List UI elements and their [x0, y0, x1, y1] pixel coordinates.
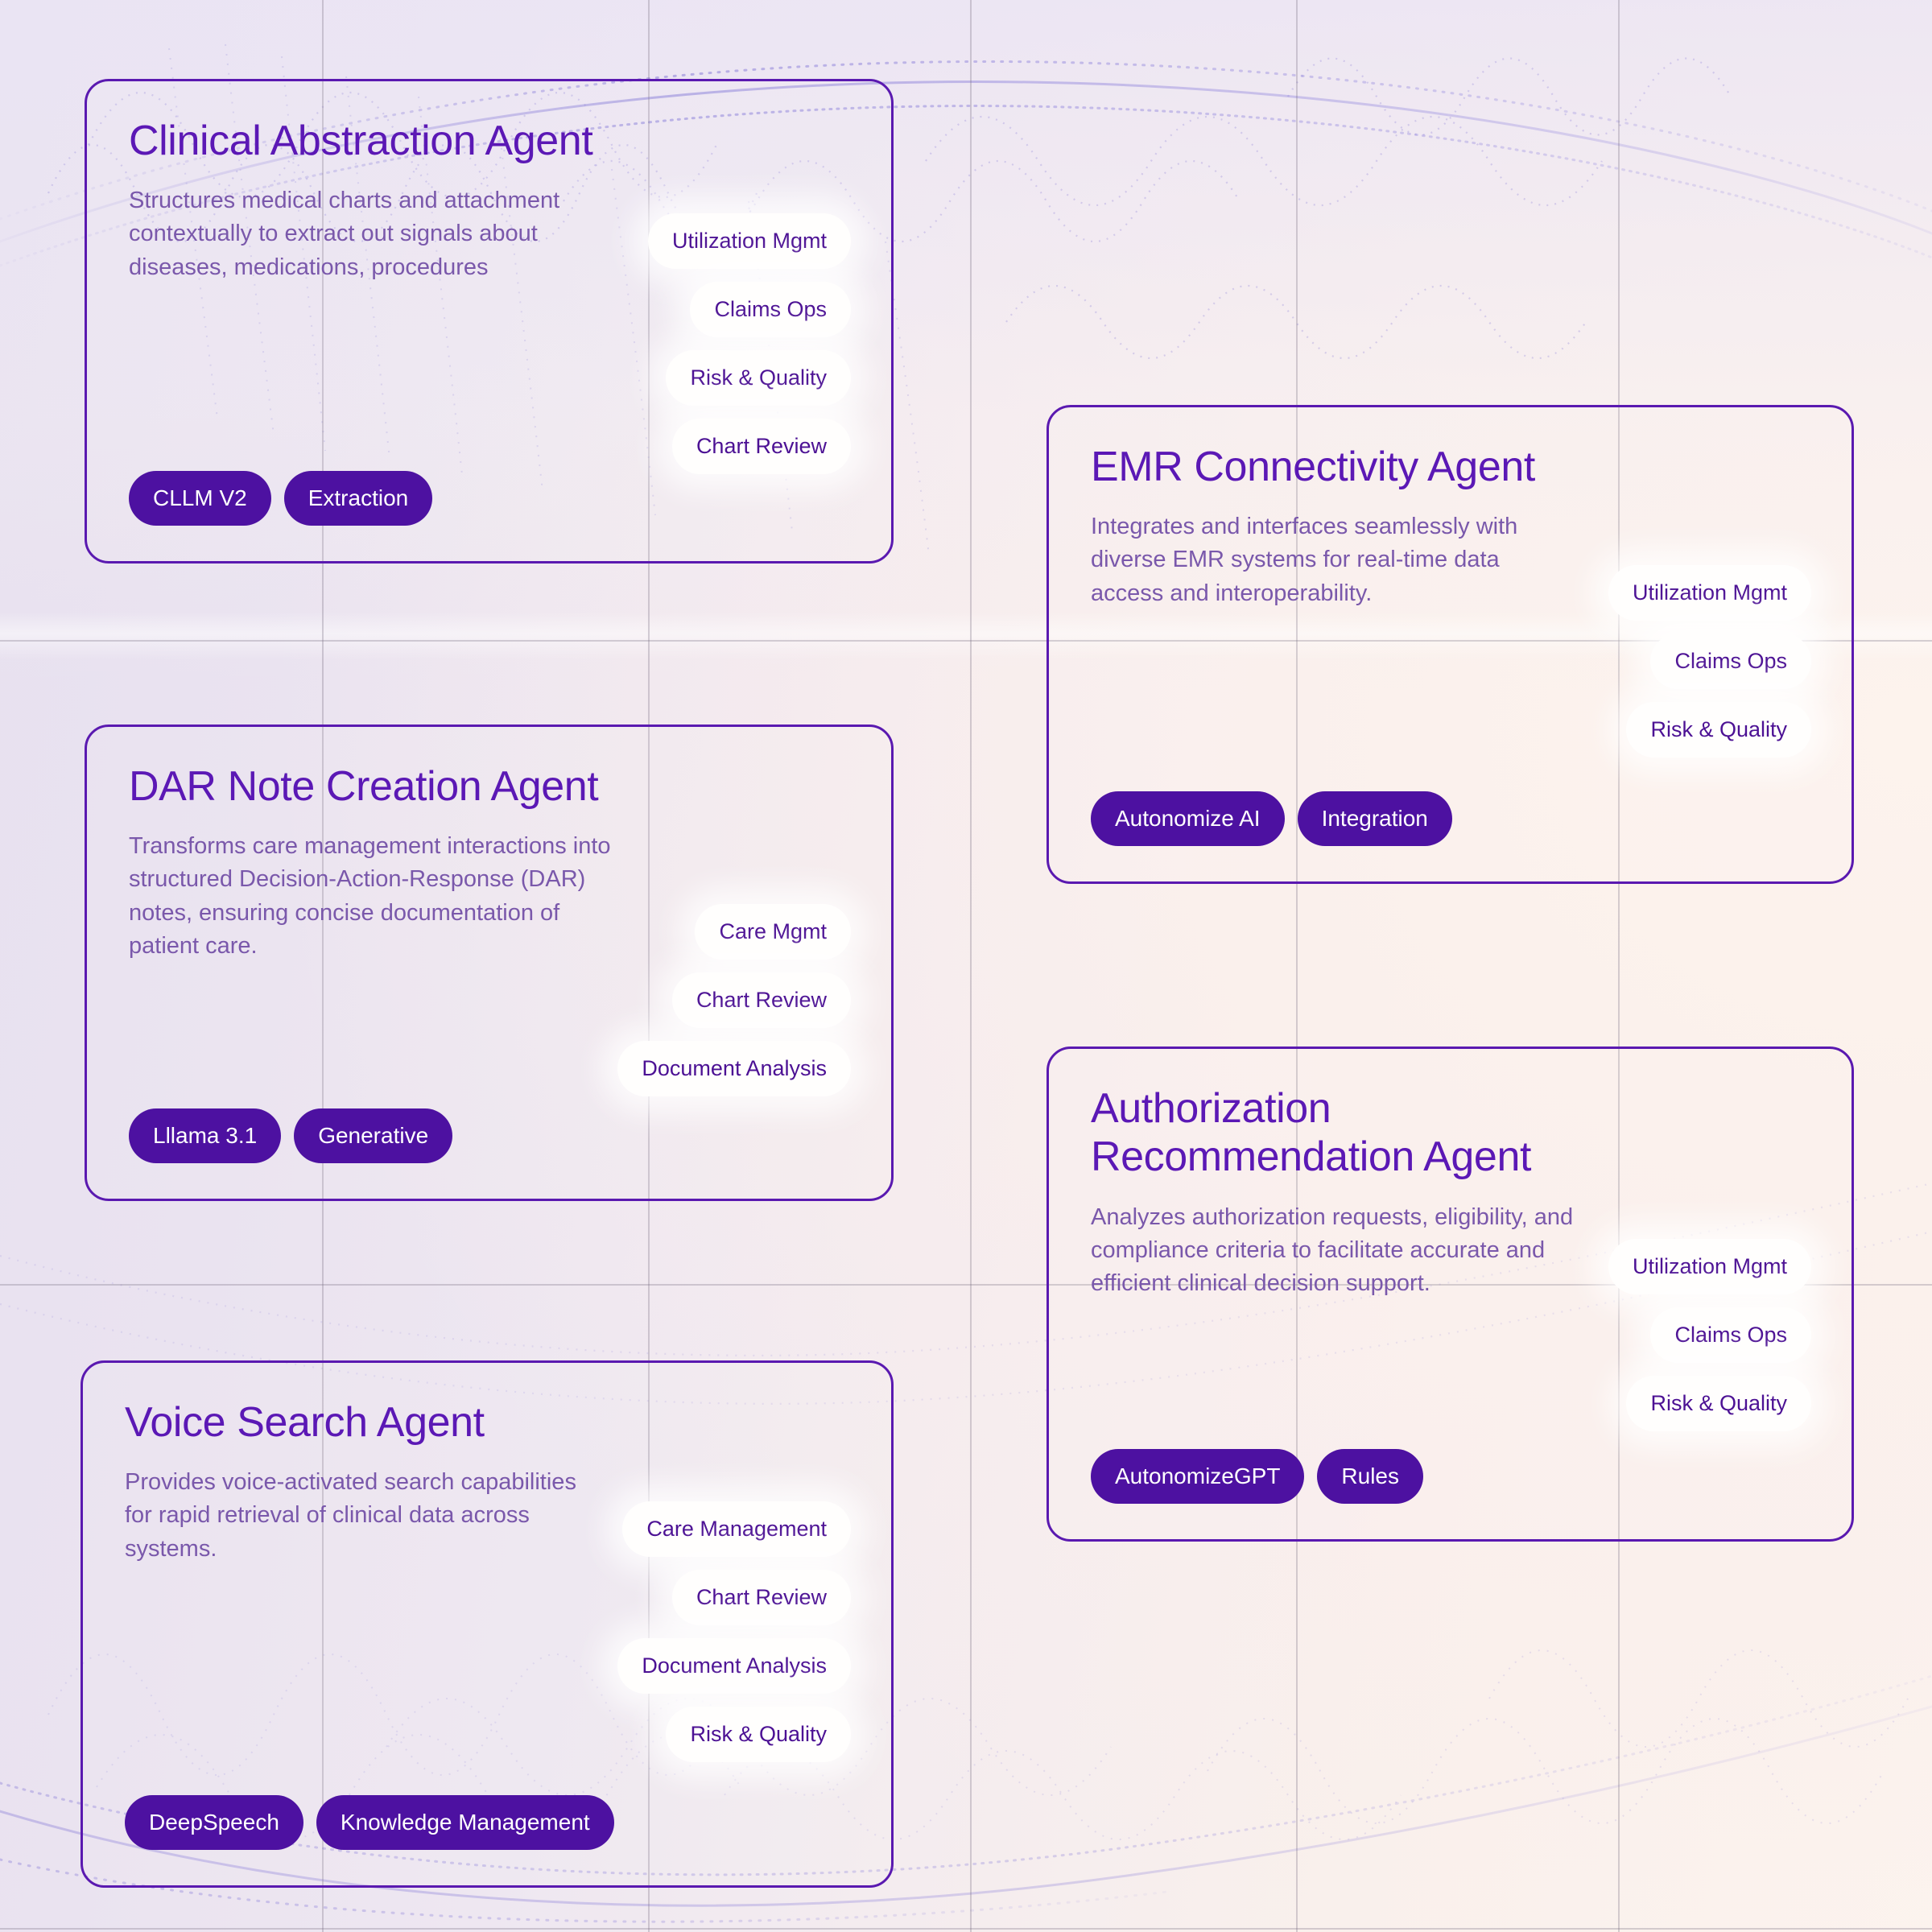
tag-pill[interactable]: Care Management: [622, 1501, 851, 1557]
tag-pill[interactable]: Claims Ops: [690, 282, 851, 337]
card-description: Analyzes authorization requests, eligibi…: [1091, 1201, 1574, 1301]
tag-pill[interactable]: Chart Review: [672, 972, 851, 1028]
chip-row: DeepSpeech Knowledge Management: [125, 1795, 614, 1850]
card-title: Clinical Abstraction Agent: [129, 117, 644, 165]
tag-pill-stack: Utilization Mgmt Claims Ops Risk & Quali…: [1608, 565, 1811, 758]
tag-pill[interactable]: Risk & Quality: [666, 350, 851, 406]
page-canvas: Clinical Abstraction Agent Structures me…: [0, 0, 1932, 1932]
tag-pill[interactable]: Claims Ops: [1650, 634, 1811, 689]
capability-chip[interactable]: Generative: [294, 1108, 452, 1163]
chip-row: Lllama 3.1 Generative: [129, 1108, 452, 1163]
tag-pill[interactable]: Risk & Quality: [1626, 702, 1811, 758]
agent-card-authorization-recommendation[interactable]: Authorization Recommendation Agent Analy…: [1046, 1046, 1854, 1542]
chip-row: CLLM V2 Extraction: [129, 471, 432, 526]
tag-pill[interactable]: Utilization Mgmt: [648, 213, 851, 269]
tag-pill[interactable]: Utilization Mgmt: [1608, 565, 1811, 621]
model-chip[interactable]: Autonomize AI: [1091, 791, 1285, 846]
model-chip[interactable]: AutonomizeGPT: [1091, 1449, 1304, 1504]
card-title: Authorization Recommendation Agent: [1091, 1084, 1606, 1182]
tag-pill[interactable]: Risk & Quality: [1626, 1376, 1811, 1431]
grid-line-horizontal: [0, 1928, 1932, 1930]
model-chip[interactable]: DeepSpeech: [125, 1795, 303, 1850]
grid-line-vertical: [970, 0, 972, 1932]
card-description: Transforms care management interactions …: [129, 830, 612, 963]
card-title: EMR Connectivity Agent: [1091, 443, 1606, 491]
tag-pill[interactable]: Utilization Mgmt: [1608, 1239, 1811, 1294]
agent-card-clinical-abstraction[interactable]: Clinical Abstraction Agent Structures me…: [85, 79, 894, 563]
capability-chip[interactable]: Knowledge Management: [316, 1795, 614, 1850]
agent-card-emr-connectivity[interactable]: EMR Connectivity Agent Integrates and in…: [1046, 405, 1854, 884]
tag-pill[interactable]: Claims Ops: [1650, 1307, 1811, 1363]
card-title: Voice Search Agent: [125, 1398, 640, 1447]
agent-card-dar-note-creation[interactable]: DAR Note Creation Agent Transforms care …: [85, 724, 894, 1201]
model-chip[interactable]: Lllama 3.1: [129, 1108, 281, 1163]
agent-card-voice-search[interactable]: Voice Search Agent Provides voice-activa…: [80, 1360, 894, 1888]
chip-row: AutonomizeGPT Rules: [1091, 1449, 1423, 1504]
tag-pill[interactable]: Chart Review: [672, 419, 851, 474]
card-description: Integrates and interfaces seamlessly wit…: [1091, 510, 1574, 610]
model-chip[interactable]: CLLM V2: [129, 471, 271, 526]
tag-pill-stack: Utilization Mgmt Claims Ops Risk & Quali…: [648, 213, 851, 474]
grid-line-vertical: [1296, 0, 1298, 1932]
chip-row: Autonomize AI Integration: [1091, 791, 1452, 846]
tag-pill-stack: Care Mgmt Chart Review Document Analysis: [617, 904, 851, 1096]
tag-pill[interactable]: Risk & Quality: [666, 1707, 851, 1762]
card-description: Structures medical charts and attachment…: [129, 184, 612, 284]
grid-line-vertical: [1618, 0, 1620, 1932]
capability-chip[interactable]: Integration: [1298, 791, 1452, 846]
tag-pill-stack: Care Management Chart Review Document An…: [617, 1501, 851, 1762]
tag-pill[interactable]: Care Mgmt: [695, 904, 851, 960]
tag-pill[interactable]: Chart Review: [672, 1570, 851, 1625]
capability-chip[interactable]: Rules: [1317, 1449, 1423, 1504]
tag-pill-stack: Utilization Mgmt Claims Ops Risk & Quali…: [1608, 1239, 1811, 1431]
capability-chip[interactable]: Extraction: [284, 471, 433, 526]
card-description: Provides voice-activated search capabili…: [125, 1466, 608, 1566]
tag-pill[interactable]: Document Analysis: [617, 1638, 851, 1694]
card-title: DAR Note Creation Agent: [129, 762, 644, 811]
tag-pill[interactable]: Document Analysis: [617, 1041, 851, 1096]
